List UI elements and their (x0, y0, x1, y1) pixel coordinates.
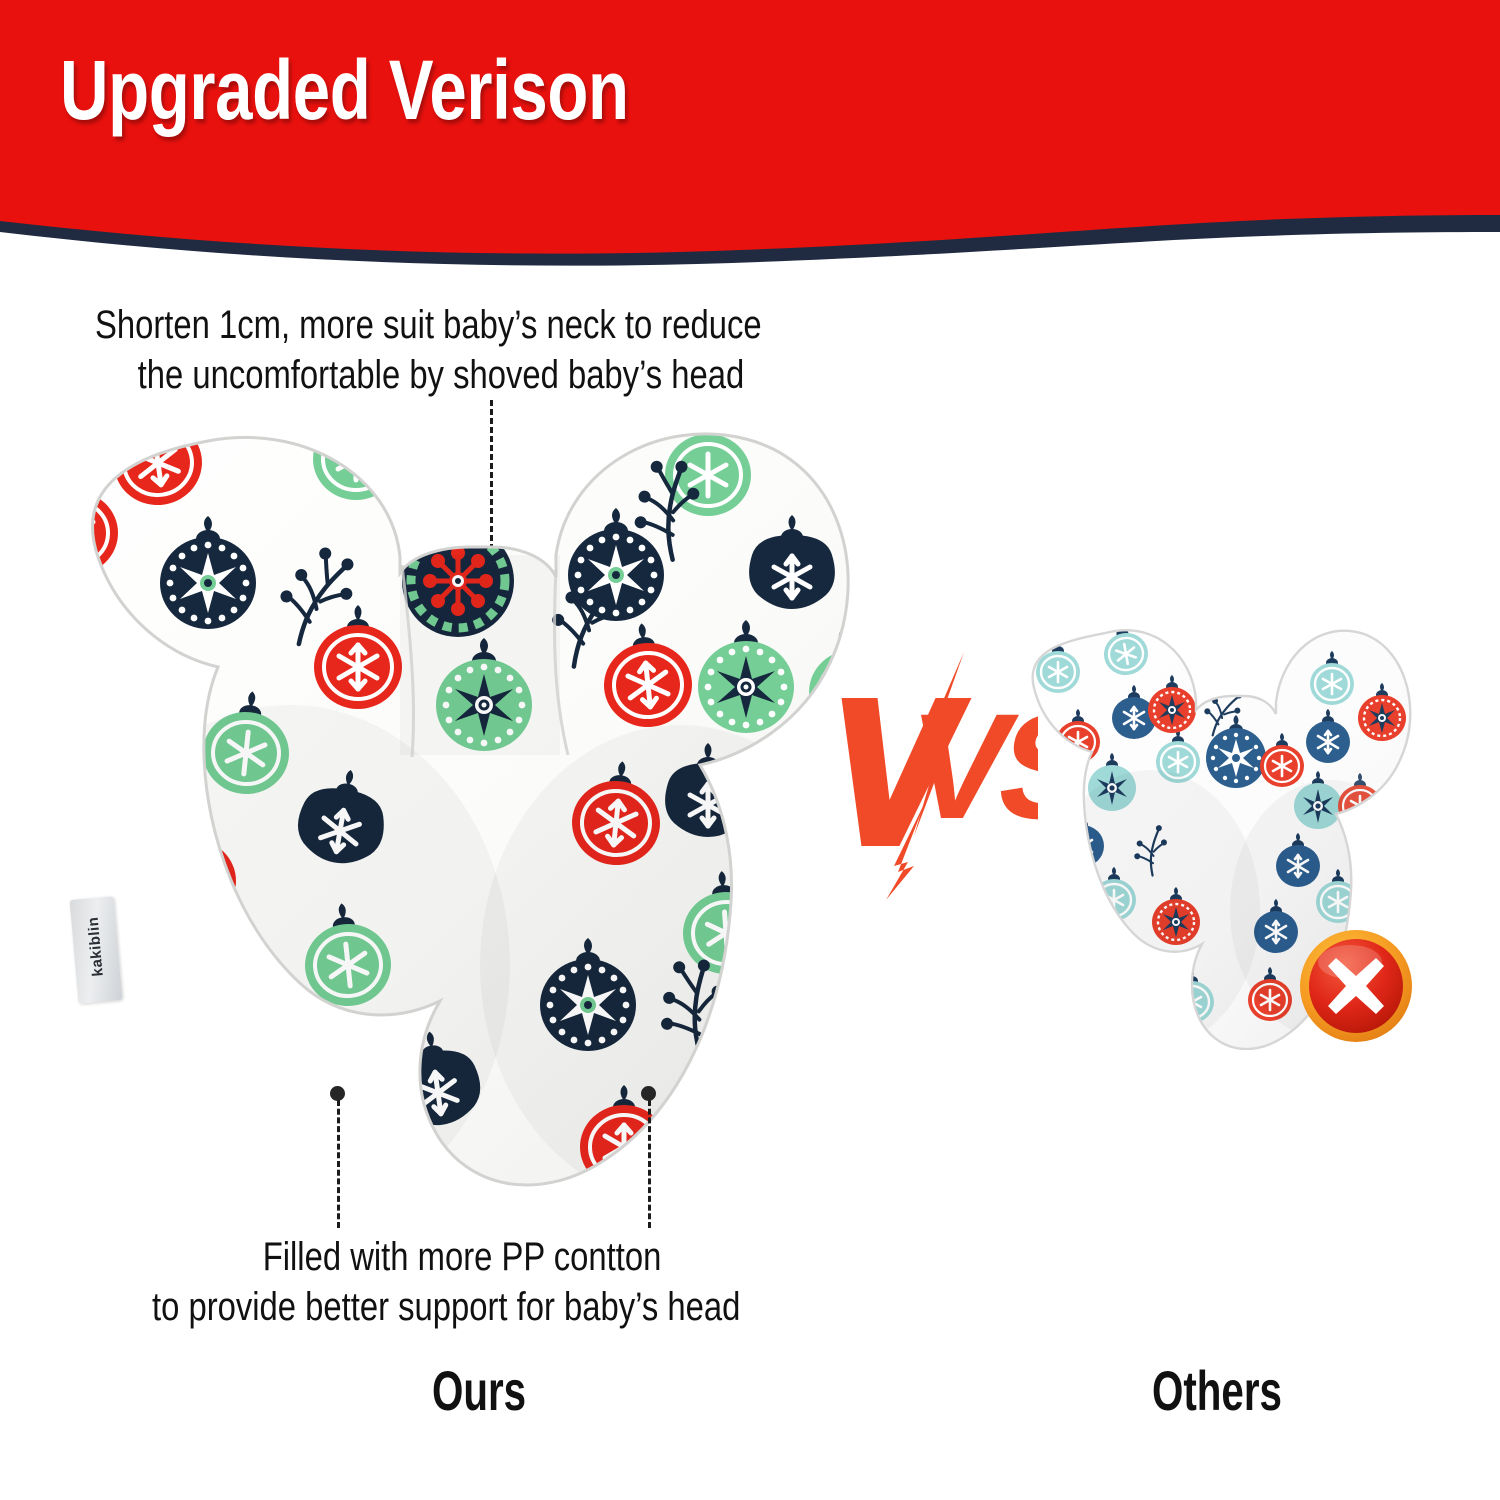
annotation-bottom-line2: to provide better support for baby’s hea… (152, 1282, 740, 1332)
product-label-ours: Ours (432, 1358, 526, 1423)
infographic-canvas: Upgraded Verison Shorten 1cm, more suit … (0, 0, 1500, 1500)
annotation-bottom: Filled with more PP contton to provide b… (152, 1232, 740, 1332)
pillow-ours-body (40, 405, 880, 1210)
brand-tag: kakiblin (70, 896, 123, 1003)
x-mark-icon (1298, 928, 1414, 1044)
product-label-others: Others (1152, 1358, 1282, 1423)
annotation-top-line1: Shorten 1cm, more suit baby’s neck to re… (95, 303, 762, 347)
annotation-top-line2: the uncomfortable by shoved baby’s head (95, 350, 762, 400)
leader-dot-bottom-right (641, 1086, 656, 1101)
annotation-top: Shorten 1cm, more suit baby’s neck to re… (95, 300, 762, 400)
vs-badge: VS (828, 650, 1038, 900)
brand-tag-label: kakiblin (82, 896, 109, 1002)
leader-line-bottom-right (648, 1100, 651, 1228)
leader-line-bottom-left (337, 1100, 340, 1228)
annotation-bottom-line1: Filled with more PP contton (152, 1232, 740, 1282)
vs-label: VS (896, 683, 1038, 851)
leader-dot-bottom-left (330, 1086, 345, 1101)
product-image-ours (40, 405, 880, 1210)
page-title: Upgraded Verison (60, 44, 629, 136)
header-banner: Upgraded Verison (0, 0, 1500, 270)
